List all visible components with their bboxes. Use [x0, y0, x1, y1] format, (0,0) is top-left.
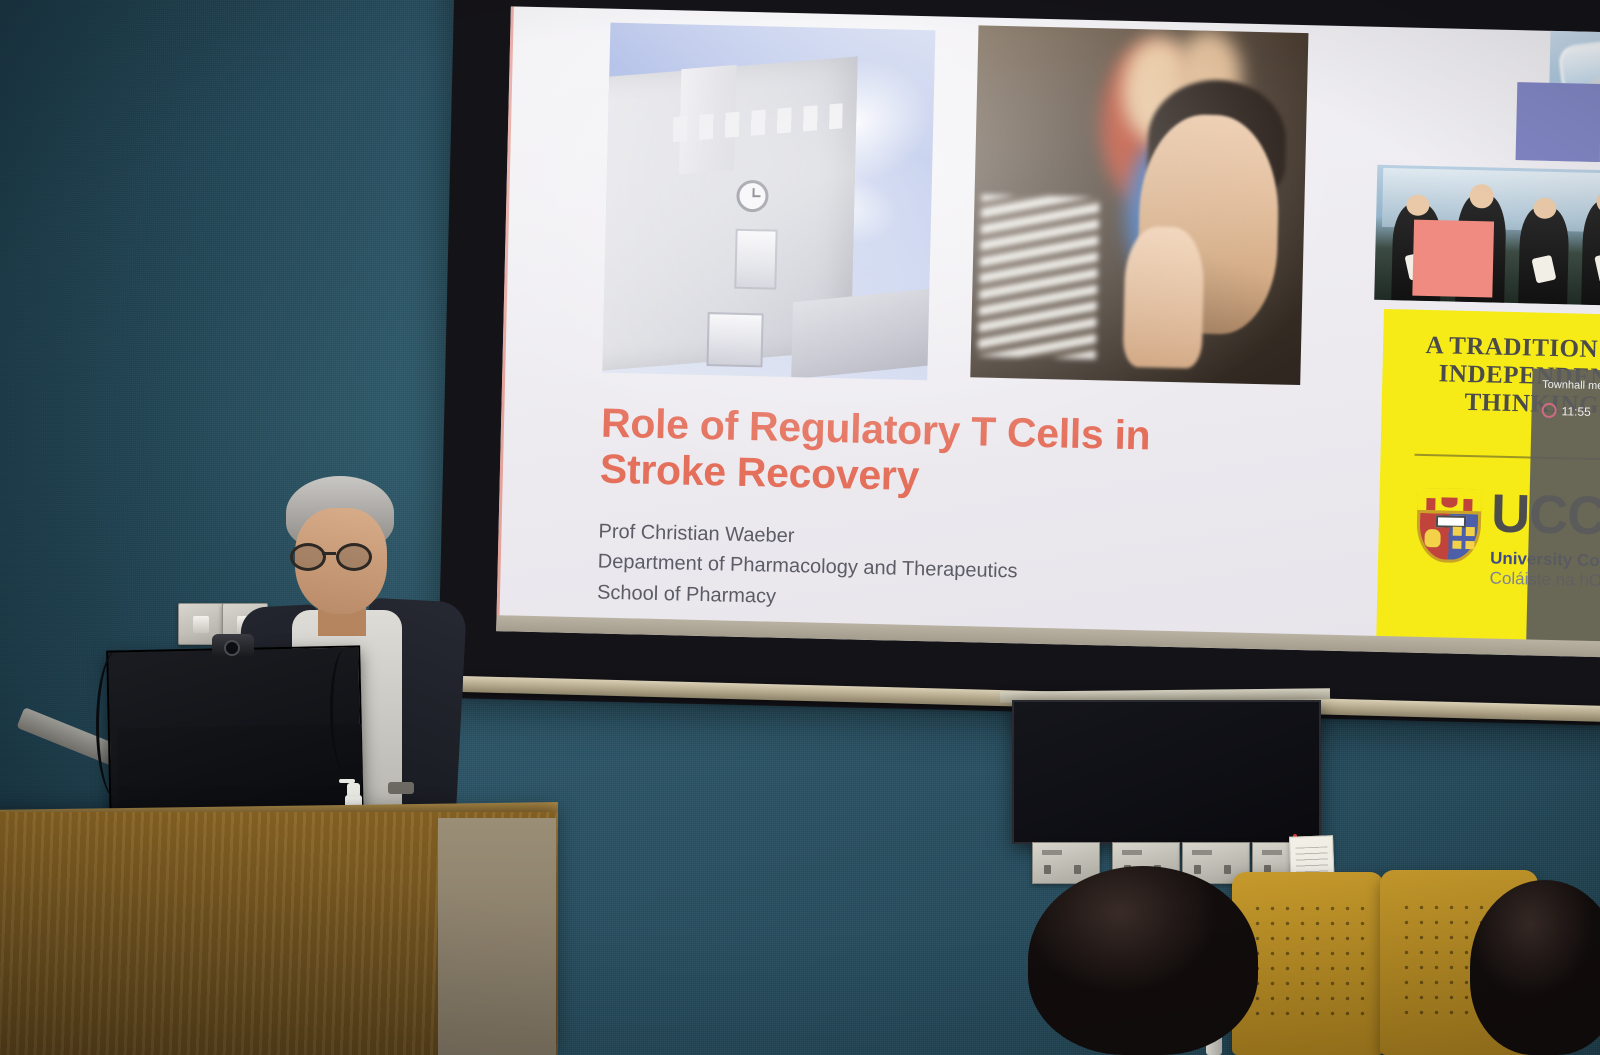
graduate [1518, 206, 1569, 304]
light-switch-rocker[interactable] [193, 616, 209, 633]
crest-tower [1426, 498, 1435, 510]
meeting-overlay-window[interactable]: Townhall meeting to... 11:55 George Pope… [1526, 369, 1600, 658]
graduate-head [1406, 195, 1430, 217]
lecture-photo-scene: A TRADITION OF INDEPENDENT THINKING [0, 0, 1600, 1055]
meeting-time-row: 11:55 [1531, 390, 1600, 421]
wristwatch [388, 782, 414, 794]
crest-crown [1453, 527, 1463, 535]
glasses-icon [290, 543, 394, 565]
projection-screen: A TRADITION OF INDEPENDENT THINKING [438, 0, 1600, 726]
tower-window [734, 229, 777, 290]
graduate-head [1470, 184, 1494, 208]
socket-label [1192, 850, 1212, 855]
wall-mounted-tv [1012, 700, 1321, 844]
glasses-bridge [322, 552, 336, 555]
graduation-scroll [1531, 255, 1556, 284]
socket-hole [1044, 865, 1051, 874]
record-dot-icon [1541, 403, 1556, 418]
crest-crown [1465, 527, 1475, 535]
purple-accent-square [1516, 82, 1600, 162]
socket-label [1122, 850, 1142, 855]
webcam-icon[interactable] [212, 634, 254, 658]
socket-hole [1194, 865, 1201, 874]
coral-accent-square [1412, 220, 1494, 298]
socket-label [1042, 850, 1062, 855]
slide-left-accent-line [496, 6, 514, 631]
lectern-side-panel [438, 818, 556, 1055]
photo-students-lecture [970, 25, 1308, 385]
ucc-crest-icon [1416, 488, 1482, 563]
socket-label [1262, 850, 1282, 855]
graduation-scroll [1594, 253, 1600, 284]
socket-hole [1224, 865, 1231, 874]
slide-title: Role of Regulatory T Cells in Stroke Rec… [599, 401, 1241, 508]
cable [330, 650, 359, 770]
slide-byline: Prof Christian Waeber Department of Phar… [597, 517, 1259, 624]
crest-lion [1424, 529, 1441, 547]
side-roof [791, 287, 936, 379]
graduate-head [1533, 198, 1557, 220]
glasses-lens [336, 543, 372, 571]
student-hand [1122, 226, 1204, 369]
socket-hole [1074, 865, 1081, 874]
meeting-elapsed-time: 11:55 [1561, 404, 1590, 419]
audience-member-head [1028, 866, 1258, 1055]
crest-book [1436, 515, 1466, 528]
tower-window [706, 312, 763, 367]
blurred-papers [977, 194, 1100, 359]
glasses-lens [290, 543, 326, 571]
crest-tower [1463, 499, 1472, 511]
crest-crown [1465, 541, 1475, 549]
crest-crown [1452, 540, 1462, 548]
photo-ucc-quad-tower [602, 23, 935, 381]
cable [96, 650, 139, 800]
presentation-slide: A TRADITION OF INDEPENDENT THINKING [496, 6, 1600, 657]
